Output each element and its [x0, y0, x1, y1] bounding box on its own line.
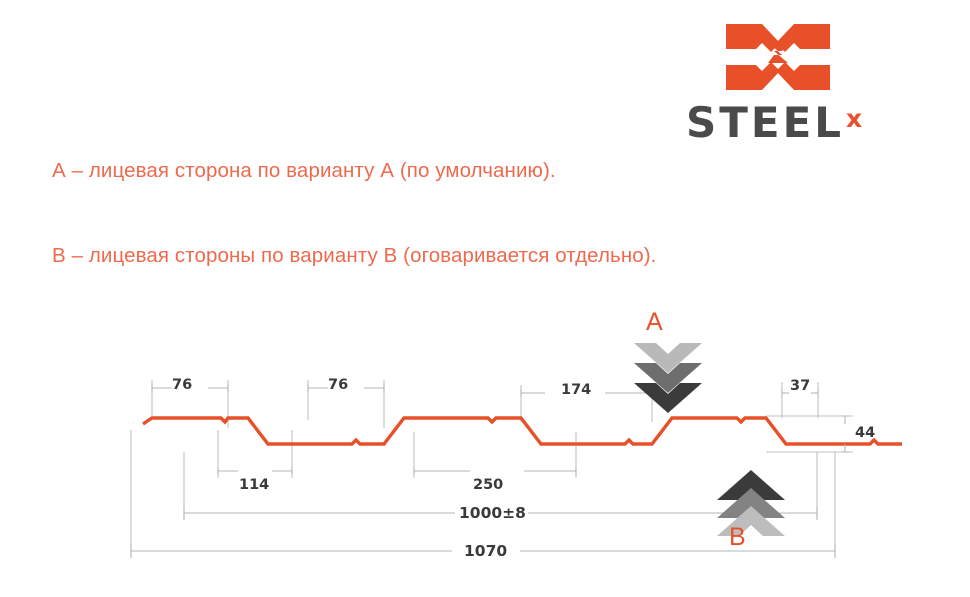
dimension-label-overall-width: 1070 [464, 542, 507, 560]
dimension-label-end-crest-width: 37 [790, 378, 810, 394]
dimension-label-crest-width-mid: 76 [328, 377, 348, 393]
dimension-label-profile-height: 44 [855, 425, 875, 441]
dimension-label-trough-width: 114 [239, 477, 269, 493]
dimension-label-crest-pitch: 174 [561, 382, 591, 398]
dimension-label-crest-width-left: 76 [172, 377, 192, 393]
marker-a-chevrons [634, 343, 702, 413]
dimension-label-pitch: 250 [473, 477, 503, 493]
marker-b-chevrons [717, 470, 785, 536]
page-root: STEEL x А – лицевая сторона по варианту … [0, 0, 970, 597]
sheet-profile-line [143, 418, 902, 444]
dimension-label-effective-width: 1000±8 [459, 504, 526, 522]
marker-a-label: А [646, 308, 663, 337]
marker-b-label: В [729, 523, 746, 552]
